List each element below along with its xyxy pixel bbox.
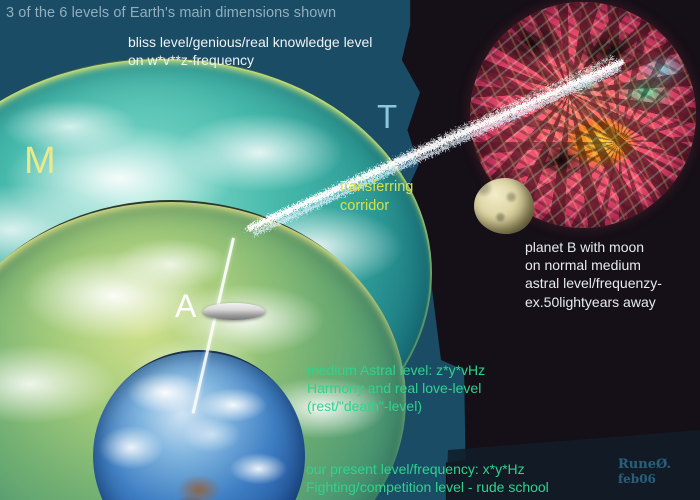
image-canvas: 3 of the 6 levels of Earth's main dimens… xyxy=(0,0,700,500)
marker-m: M xyxy=(24,140,56,183)
page-title: 3 of the 6 levels of Earth's main dimens… xyxy=(6,4,336,23)
artist-signature: RuneØ. feb06 xyxy=(618,458,671,487)
label-present-level: our present level/frequency: x*y*Hz Figh… xyxy=(306,460,549,496)
signature-name: RuneØ. xyxy=(618,457,671,472)
marker-t: T xyxy=(377,98,397,136)
label-transferring-corridor: transferring corridor xyxy=(340,178,413,216)
moon-b xyxy=(474,178,534,234)
label-bliss-level: bliss level/genious/real knowledge level… xyxy=(128,33,372,69)
marker-a: A xyxy=(175,288,196,325)
label-planet-b: planet B with moon on normal medium astr… xyxy=(525,238,662,311)
label-medium-astral-level: medium Astral level: z*y*vHz Harmony and… xyxy=(307,361,485,416)
craft-disc xyxy=(203,303,265,320)
signature-date: feb06 xyxy=(618,473,671,487)
